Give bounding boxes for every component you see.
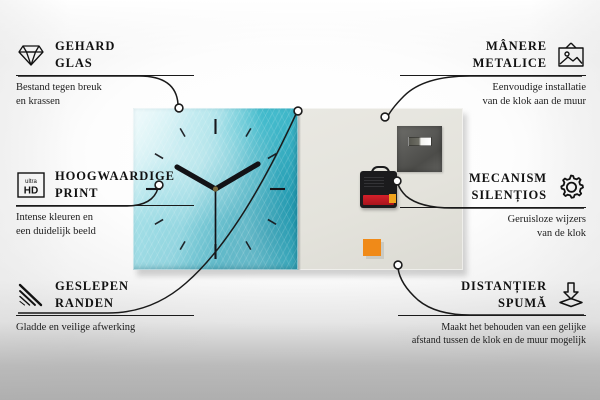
diamond-icon (16, 40, 46, 70)
battery (363, 195, 394, 205)
ultra-hd-icon: ultra HD (16, 170, 46, 200)
feature-subtitle: Gladde en veilige afwerking (16, 321, 194, 335)
orange-foam-spacer (363, 239, 381, 256)
feature-hoogwaardige-print: ultra HD HOOGWAARDIGE PRINT Intense kleu… (16, 168, 194, 239)
feature-heading: GESLEPEN RANDEN (16, 278, 194, 311)
feature-title: MECANISM SILENȚIOS (469, 170, 547, 203)
feature-subtitle: Eenvoudige installatie van de klok aan d… (400, 81, 586, 109)
clock-mechanism-box (360, 171, 397, 208)
feature-geslepen-randen: GESLEPEN RANDEN Gladde en veilige afwerk… (16, 278, 194, 335)
feature-title: GEHARD GLAS (55, 38, 115, 71)
feature-heading: ultra HD HOOGWAARDIGE PRINT (16, 168, 194, 201)
feature-mecanism-silentios: MECANISM SILENȚIOS Geruisloze wijzers va… (400, 170, 586, 241)
feature-distantier-spuma: DISTANȚIER SPUMĂ Maakt het behouden van … (398, 278, 586, 348)
feature-title: DISTANȚIER SPUMĂ (461, 278, 547, 311)
feature-subtitle: Maakt het behouden van een gelijke afsta… (398, 321, 586, 348)
panel-seam (298, 108, 301, 270)
feature-title: GESLEPEN RANDEN (55, 278, 129, 311)
feature-divider (398, 315, 586, 316)
feature-divider (16, 205, 194, 206)
metal-hanger-plate (397, 126, 442, 172)
feature-gehard-glas: GEHARD GLAS Bestand tegen breuk en krass… (16, 38, 194, 109)
feature-subtitle: Intense kleuren en een duidelijk beeld (16, 211, 194, 239)
feature-divider (400, 75, 586, 76)
feature-divider (16, 75, 194, 76)
feature-heading: GEHARD GLAS (16, 38, 194, 71)
feature-heading: DISTANȚIER SPUMĂ (398, 278, 586, 311)
gear-icon (556, 172, 586, 202)
feature-title: MÂNERE METALICE (473, 38, 547, 71)
feature-heading: MÂNERE METALICE (400, 38, 586, 71)
feature-title: HOOGWAARDIGE PRINT (55, 168, 175, 201)
feature-heading: MECANISM SILENȚIOS (400, 170, 586, 203)
picture-frame-icon (556, 40, 586, 70)
feature-divider (16, 315, 194, 316)
feature-subtitle: Geruisloze wijzers van de klok (400, 213, 586, 241)
spacer-foam-icon (556, 280, 586, 310)
svg-text:HD: HD (24, 185, 38, 196)
infographic-canvas: GEHARD GLAS Bestand tegen breuk en krass… (0, 0, 600, 400)
svg-text:ultra: ultra (25, 179, 37, 185)
beveled-edges-icon (16, 280, 46, 310)
battery-terminal (389, 194, 396, 203)
mechanism-ridges (364, 177, 384, 188)
hanger-slot (408, 137, 432, 146)
feature-divider (400, 207, 586, 208)
feature-subtitle: Bestand tegen breuk en krassen (16, 81, 194, 109)
feature-manere-metalice: MÂNERE METALICE Eenvoudige installatie v… (400, 38, 586, 109)
